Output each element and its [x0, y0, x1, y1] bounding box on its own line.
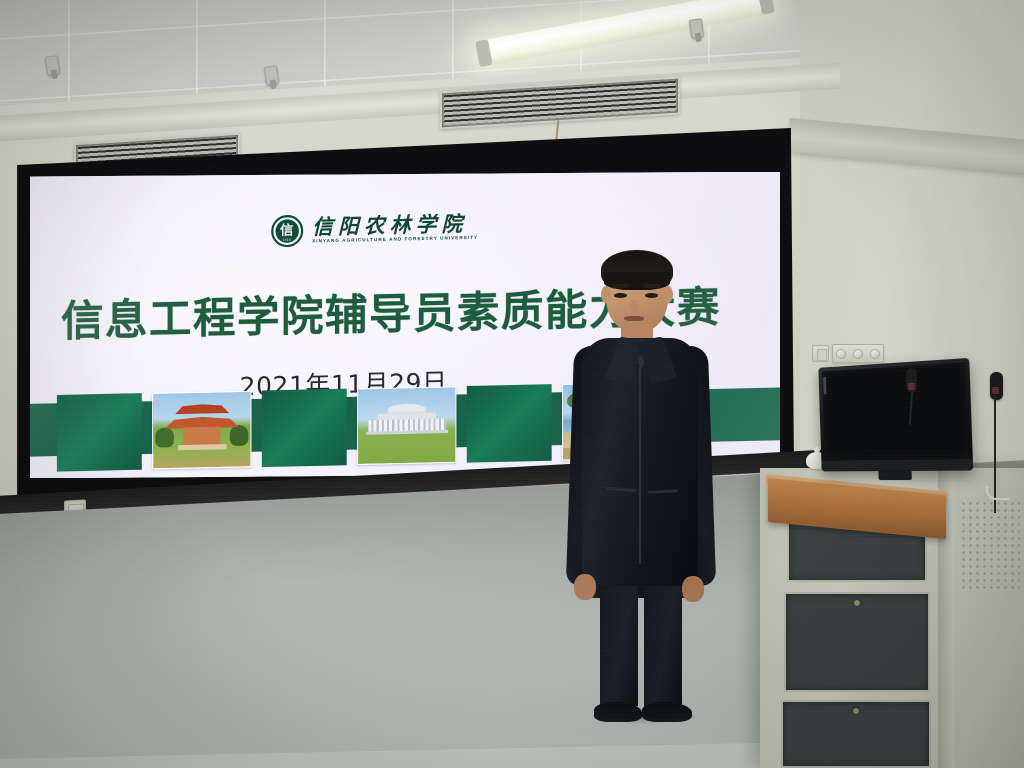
light-switch-knob[interactable] [836, 349, 846, 359]
presenter-eye [614, 293, 627, 298]
wall-outlet-plate[interactable] [812, 345, 829, 362]
presenter [560, 250, 740, 750]
pavilion-upper-roof [174, 403, 228, 414]
jacket-zipper [639, 364, 641, 564]
photo-tree [229, 424, 248, 445]
monitor-stand [878, 470, 912, 480]
microphone-head-icon [990, 372, 1003, 400]
presenter-eye [645, 293, 658, 298]
campus-library-photo [357, 386, 456, 465]
jacket-pocket-left [606, 487, 636, 492]
presenter-jacket [582, 338, 698, 598]
green-block-3 [467, 384, 552, 462]
jacket-collar-right [637, 336, 678, 383]
presenter-floor-shadow [590, 708, 700, 724]
university-name-block: 信阳农林学院 XINYANG AGRICULTURE AND FORESTRY … [312, 213, 478, 244]
light-switch-knob[interactable] [853, 349, 863, 359]
university-emblem-icon: 信 1910 [270, 214, 302, 247]
jacket-pocket-right [648, 489, 678, 494]
emblem-year: 1910 [272, 237, 300, 242]
light-switch-panel[interactable] [832, 344, 884, 363]
microphone-head-icon [906, 368, 917, 393]
presenter-right-leg [644, 586, 682, 706]
podium-monitor[interactable] [818, 358, 973, 472]
lectern-panel-bottom[interactable] [781, 700, 931, 768]
presenter-ear [601, 286, 611, 303]
presenter-legs [598, 586, 686, 718]
university-logo: 信 1910 信阳农林学院 XINYANG AGRICULTURE AND FO… [270, 210, 477, 247]
campus-pavilion-photo [152, 391, 251, 470]
microphone-cable [986, 486, 1010, 500]
green-block-1 [57, 393, 142, 471]
pavilion-body [183, 426, 220, 446]
presenter-nose [629, 300, 638, 312]
presenter-ear [663, 286, 673, 303]
monitor-brand-tag [823, 377, 826, 394]
light-switch-knob[interactable] [870, 349, 880, 359]
presenter-left-leg [600, 586, 638, 706]
emblem-glyph: 信 [280, 223, 293, 237]
presenter-mouth [624, 316, 644, 321]
university-name-cn: 信阳农林学院 [312, 213, 478, 237]
ceiling-sprinkler-icon [264, 65, 280, 86]
green-block-2 [262, 388, 347, 466]
pavilion-base [177, 444, 226, 450]
classroom-scene: 信 1910 信阳农林学院 XINYANG AGRICULTURE AND FO… [0, 0, 1024, 768]
ceiling-sprinkler-icon [45, 55, 61, 76]
presenter-left-hand [574, 574, 596, 600]
monitor-screen[interactable] [822, 362, 969, 460]
photo-tree [155, 428, 173, 448]
ceiling-sprinkler-icon [689, 18, 705, 39]
wall-speaker-grille [960, 500, 1020, 592]
lectern-panel-middle[interactable] [784, 592, 930, 692]
